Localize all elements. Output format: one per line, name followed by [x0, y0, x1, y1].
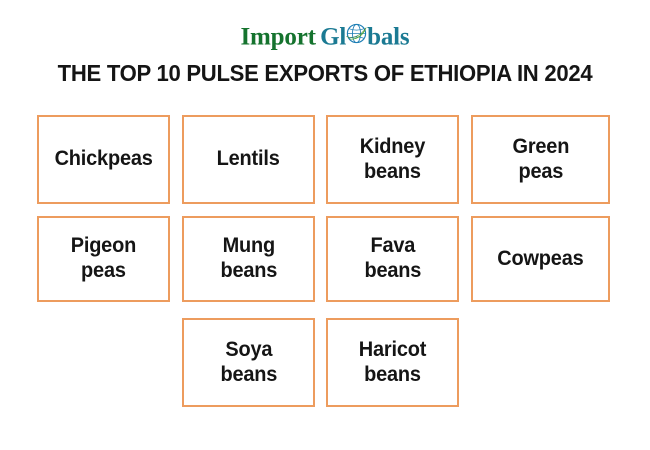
pulse-card-label: Green peas [512, 135, 569, 185]
pulse-card-label: Soya beans [220, 338, 277, 388]
pulse-card-label: Mung beans [220, 234, 277, 284]
pulse-card-kidney-beans[interactable]: Kidney beans [326, 115, 459, 204]
pulse-card-label: Haricot beans [359, 338, 426, 388]
pulse-card-pigeon-peas[interactable]: Pigeon peas [37, 216, 170, 302]
pulse-card-fava-beans[interactable]: Fava beans [326, 216, 459, 302]
pulse-card-soya-beans[interactable]: Soya beans [182, 318, 315, 407]
pulse-card-green-peas[interactable]: Green peas [471, 115, 610, 204]
pulse-card-label: Pigeon peas [71, 234, 136, 284]
pulse-card-chickpeas[interactable]: Chickpeas [37, 115, 170, 204]
pulse-card-label: Cowpeas [497, 247, 583, 272]
pulse-card-lentils[interactable]: Lentils [182, 115, 315, 204]
pulse-card-label: Kidney beans [360, 135, 425, 185]
pulse-card-cowpeas[interactable]: Cowpeas [471, 216, 610, 302]
pulse-card-label: Chickpeas [54, 147, 152, 172]
infographic-canvas: Import Gl bals THE TOP 10 PULSE EXPORTS … [0, 0, 650, 450]
pulse-card-label: Lentils [217, 147, 280, 172]
pulse-card-label: Fava beans [364, 234, 421, 284]
pulse-card-mung-beans[interactable]: Mung beans [182, 216, 315, 302]
pulse-card-haricot-beans[interactable]: Haricot beans [326, 318, 459, 407]
pulse-export-grid: Chickpeas Lentils Kidney beans Green pea… [0, 0, 650, 450]
